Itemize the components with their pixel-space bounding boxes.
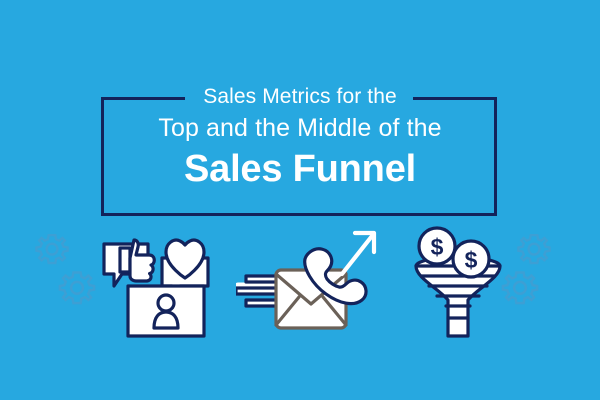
outreach-icon-group — [236, 224, 386, 342]
headline-line-1: Sales Metrics for the — [0, 82, 600, 111]
thumbs-up-speech-bubble-icon — [104, 240, 154, 286]
person-card-icon — [128, 286, 204, 336]
dollar-coin-icon: $ — [453, 241, 489, 277]
poster-canvas: Sales Metrics for the Top and the Middle… — [0, 0, 600, 400]
headline-line-2: Top and the Middle of the — [0, 111, 600, 146]
icon-row: $ $ — [0, 224, 600, 344]
headline-block: Sales Metrics for the Top and the Middle… — [0, 82, 600, 192]
dollar-coin-icon: $ — [419, 228, 455, 264]
dollar-symbol-right: $ — [465, 247, 478, 273]
social-engagement-icon-group — [96, 224, 226, 342]
frame-edge-bottom — [101, 213, 497, 216]
dollar-symbol-left: $ — [431, 234, 444, 260]
revenue-funnel-icon-group: $ $ — [404, 224, 512, 342]
headline-line-3: Sales Funnel — [0, 146, 600, 192]
arrow-up-right-icon — [342, 233, 374, 274]
